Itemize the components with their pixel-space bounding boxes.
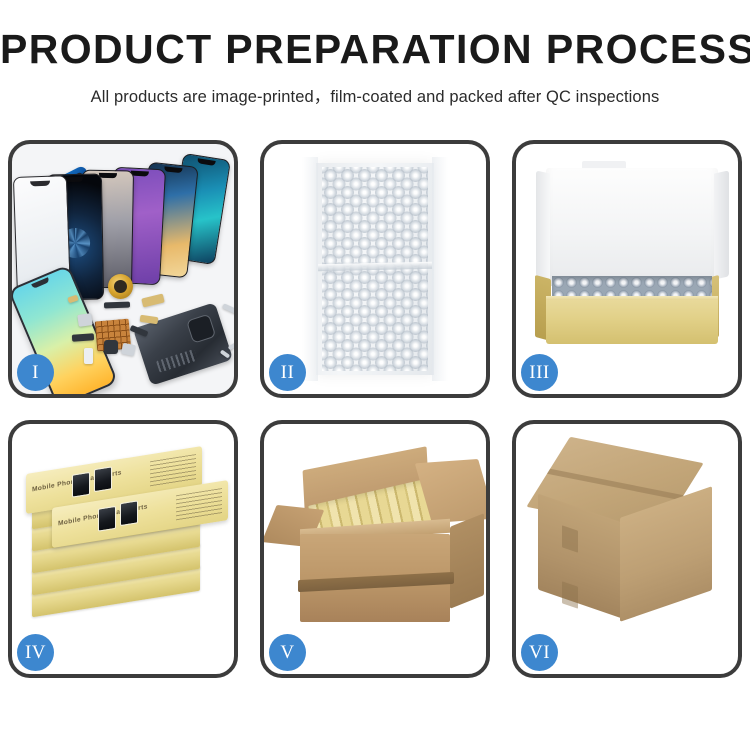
spare-part	[228, 342, 234, 350]
spare-part	[222, 303, 234, 317]
process-step-panel-5: V	[260, 420, 490, 678]
box-spec-lines	[176, 488, 222, 521]
box-screen-graphic	[72, 472, 90, 498]
spare-part	[140, 315, 159, 324]
phone-screen-fan	[15, 154, 225, 274]
step-badge-5: V	[269, 634, 306, 671]
process-step-panel-3: III	[512, 140, 742, 398]
copper-coil-part	[108, 274, 133, 299]
page-subtitle: All products are image-printed，film-coat…	[0, 83, 750, 107]
process-step-panel-2: II	[260, 140, 490, 398]
bubble-wrap-edge	[302, 157, 318, 381]
product-preparation-infographic: PRODUCT PREPARATION PROCESS All products…	[0, 0, 750, 750]
bubble-wrap-edge	[432, 157, 448, 381]
box-spec-lines	[150, 454, 196, 487]
process-step-panel-1: I	[8, 140, 238, 398]
spare-part	[121, 343, 136, 356]
process-step-panel-6: VI	[512, 420, 742, 678]
step-badge-6: VI	[521, 634, 558, 671]
carton-tape-mark	[562, 581, 578, 609]
box-stack: Mobile Phone Spare Parts Mobile Phone Sp…	[26, 460, 226, 630]
process-step-panel-4: Mobile Phone Spare Parts Mobile Phone Sp…	[8, 420, 238, 678]
spare-part	[77, 313, 93, 327]
inner-box-white-lid	[546, 168, 718, 286]
inner-box-front	[546, 300, 718, 344]
phone-back-housing	[133, 302, 233, 386]
spare-part	[104, 340, 118, 354]
step-badge-4: IV	[17, 634, 54, 671]
step-badge-3: III	[521, 354, 558, 391]
box-screen-graphic	[98, 506, 116, 532]
spare-part	[141, 293, 165, 307]
carton-side-panel	[450, 513, 484, 609]
box-screen-graphic	[94, 466, 112, 492]
header: PRODUCT PREPARATION PROCESS All products…	[0, 0, 750, 107]
page-title: PRODUCT PREPARATION PROCESS	[0, 28, 750, 71]
step-badge-2: II	[269, 354, 306, 391]
spare-part	[84, 348, 93, 364]
process-step-grid: I II	[8, 140, 742, 678]
spare-part	[104, 302, 130, 309]
bubble-wrap-package	[316, 163, 434, 375]
box-screen-graphic	[120, 500, 138, 526]
step-badge-1: I	[17, 354, 54, 391]
